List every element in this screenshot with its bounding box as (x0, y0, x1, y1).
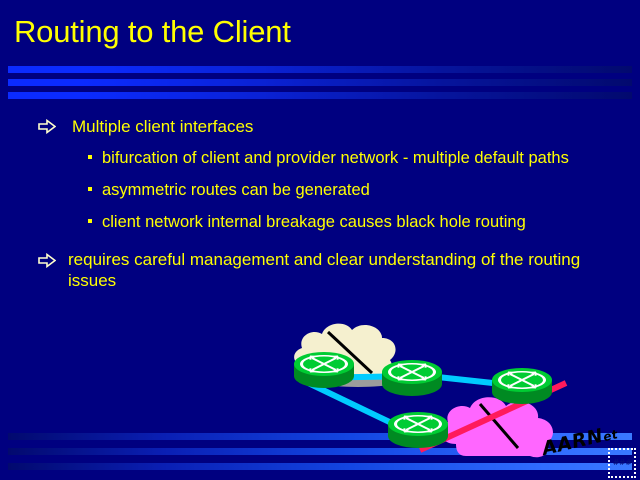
router-right (492, 368, 552, 404)
bullet-item-level1: requires careful management and clear un… (0, 249, 640, 291)
slide-number-text: ### (610, 458, 634, 467)
router-top-left (294, 352, 354, 388)
router-bottom (388, 412, 448, 448)
page-title: Routing to the Client (14, 14, 291, 50)
decorative-bar-top-3 (8, 92, 632, 99)
bullet-item-level2: client network internal breakage causes … (0, 211, 640, 233)
router-top-right (382, 360, 442, 396)
decorative-bar-top-2 (8, 79, 632, 86)
provider-network-cloud (441, 397, 553, 457)
slide-number-placeholder: ### (608, 448, 636, 478)
network-topology-diagram (280, 318, 640, 480)
aarnet-logo-suffix: et (602, 427, 620, 444)
bullet-text: client network internal breakage causes … (102, 213, 526, 231)
bullet-text: bifurcation of client and provider netwo… (102, 149, 569, 167)
bullet-item-level2: asymmetric routes can be generated (0, 179, 640, 201)
bullet-text: asymmetric routes can be generated (102, 181, 370, 199)
bullet-text: requires careful management and clear un… (68, 250, 580, 290)
bullet-item-level1: Multiple client interfaces (0, 116, 640, 137)
slide-body: Multiple client interfaces bifurcation o… (0, 116, 640, 297)
bullet-text: Multiple client interfaces (72, 117, 253, 136)
dot-bullet-icon (88, 155, 92, 159)
arrow-bullet-icon (38, 118, 56, 133)
arrow-bullet-icon (38, 252, 56, 267)
decorative-bar-top-1 (8, 66, 632, 73)
dot-bullet-icon (88, 219, 92, 223)
presentation-slide: Routing to the Client Multiple client in… (0, 0, 640, 480)
bullet-item-level2: bifurcation of client and provider netwo… (0, 147, 640, 169)
dot-bullet-icon (88, 187, 92, 191)
